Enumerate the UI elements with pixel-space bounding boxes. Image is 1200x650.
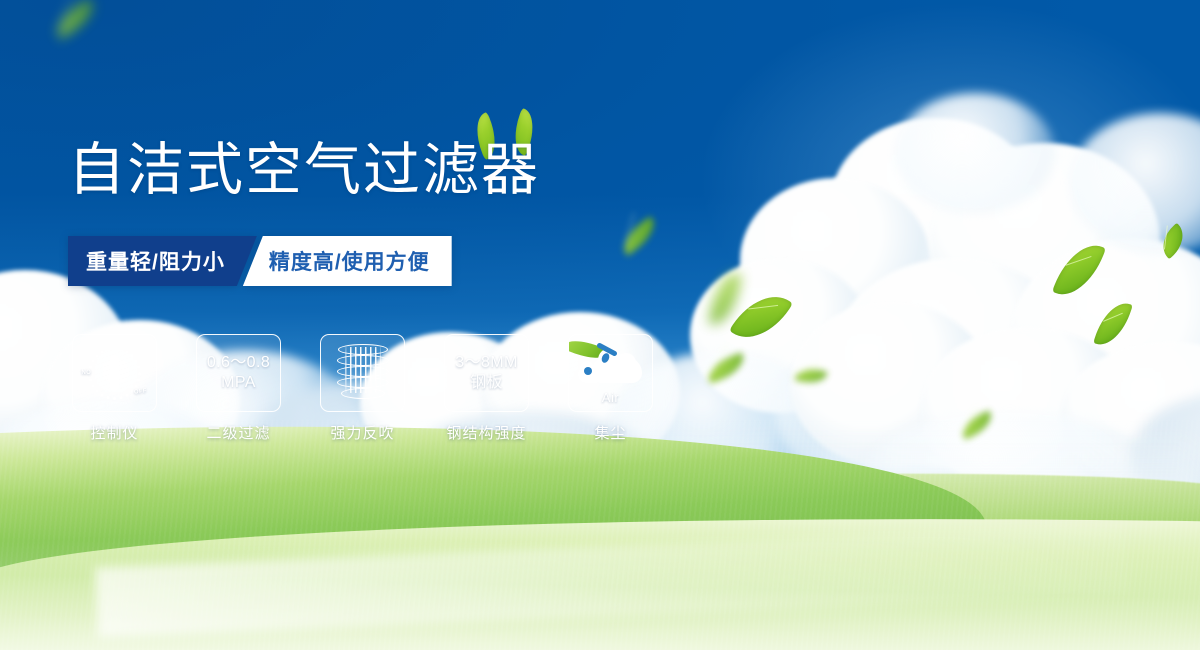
feature-label: 钢结构强度 [446, 422, 526, 443]
feature-box: 0.6〜0.8 MPA [196, 334, 281, 412]
product-banner: 自洁式空气过滤器 重量轻/阻力小 精度高/使用方便 [0, 0, 1200, 650]
feature-box: 3〜8MM 钢板 [444, 334, 529, 412]
feature-item-dust[interactable]: Air 集尘 [568, 334, 653, 443]
feature-box: NO OFF [72, 334, 157, 412]
steel-thickness: 3〜8MM [455, 353, 517, 373]
feature-item-steel[interactable]: 3〜8MM 钢板 钢结构强度 [444, 334, 529, 443]
feature-box [320, 334, 405, 412]
gauge-label-off: OFF [133, 388, 146, 395]
tagline-right: 精度高/使用方便 [243, 236, 452, 286]
sky-glow [600, 0, 1200, 423]
feature-label: 集尘 [594, 422, 626, 443]
pressure-value: 0.6〜0.8 [207, 353, 270, 373]
feature-box: Air [568, 334, 653, 412]
feature-item-blowback[interactable]: 强力反吹 [320, 334, 405, 443]
page-title: 自洁式空气过滤器 [68, 142, 540, 199]
feature-label: 控制仪 [90, 422, 138, 443]
grass-field [0, 420, 1200, 650]
feature-label: 二级过滤 [206, 422, 270, 443]
tagline-left: 重量轻/阻力小 [68, 236, 257, 286]
gauge-needle [110, 355, 119, 391]
feature-item-pressure[interactable]: 0.6〜0.8 MPA 二级过滤 [196, 334, 281, 443]
steel-material: 钢板 [470, 373, 503, 393]
air-cloud-icon: Air [576, 345, 646, 401]
feature-label: 强力反吹 [330, 422, 394, 443]
feature-list: NO OFF 控制仪 0.6〜0.8 MPA 二级过滤 [72, 334, 653, 443]
gauge-label-no: NO [82, 370, 92, 376]
tagline-bar: 重量轻/阻力小 精度高/使用方便 [68, 236, 452, 286]
feature-item-controller[interactable]: NO OFF 控制仪 [72, 334, 157, 443]
air-label: Air [576, 390, 646, 405]
gauge-icon: NO OFF [82, 344, 148, 402]
coil-icon [335, 344, 391, 402]
pressure-unit: MPA [221, 373, 256, 393]
grass-light-glow [0, 540, 1200, 650]
